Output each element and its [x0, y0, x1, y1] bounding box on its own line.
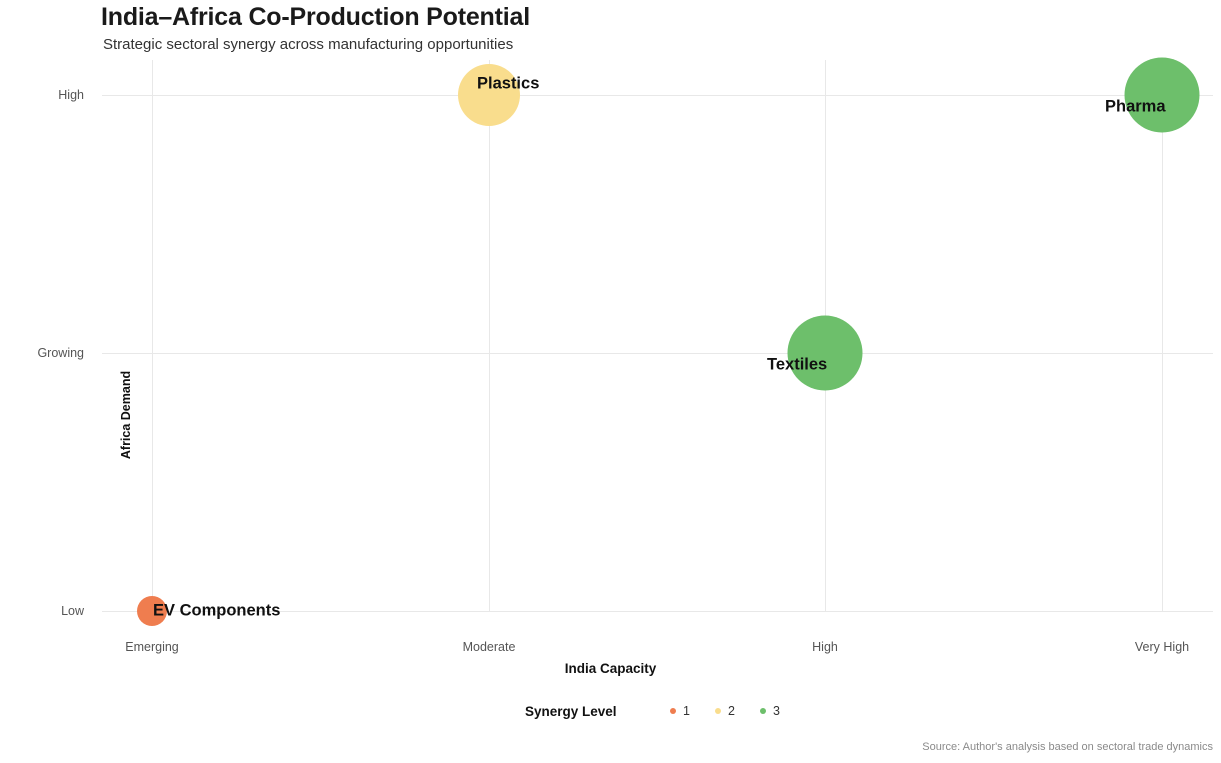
legend-item-3[interactable]: 3 — [760, 704, 780, 718]
legend-item-2[interactable]: 2 — [715, 704, 735, 718]
gridline-x-very-high — [1162, 60, 1163, 611]
gridline-x-emerging — [152, 60, 153, 611]
y-tick-high: High — [58, 88, 84, 102]
legend-swatch-1-icon — [670, 708, 676, 714]
page-subtitle: Strategic sectoral synergy across manufa… — [103, 36, 513, 53]
x-axis-label: India Capacity — [0, 661, 1221, 676]
legend-label-2: 2 — [728, 704, 735, 718]
x-tick-very-high: Very High — [1135, 640, 1189, 654]
plot-area: Plastics Pharma Textiles EV Components A… — [102, 60, 1213, 611]
legend-swatch-2-icon — [715, 708, 721, 714]
source-note: Source: Author's analysis based on secto… — [922, 741, 1213, 753]
legend-label-3: 3 — [773, 704, 780, 718]
bubble-label-textiles: Textiles — [767, 356, 827, 375]
gridline-y-growing — [102, 353, 1213, 354]
x-tick-moderate: Moderate — [463, 640, 516, 654]
bubble-textiles[interactable] — [788, 316, 863, 391]
legend-label-1: 1 — [683, 704, 690, 718]
legend-swatch-3-icon — [760, 708, 766, 714]
bubble-label-pharma: Pharma — [1105, 98, 1166, 117]
legend-item-1[interactable]: 1 — [670, 704, 690, 718]
bubble-plastics[interactable] — [458, 64, 520, 126]
x-tick-emerging: Emerging — [125, 640, 179, 654]
y-tick-growing: Growing — [37, 346, 84, 360]
gridline-y-high — [102, 95, 1213, 96]
x-tick-high: High — [812, 640, 838, 654]
legend-title: Synergy Level — [525, 704, 617, 719]
gridline-x-moderate — [489, 60, 490, 611]
y-tick-low: Low — [61, 604, 84, 618]
bubble-label-plastics: Plastics — [477, 75, 539, 94]
bubble-label-ev-components: EV Components — [153, 602, 280, 621]
legend: Synergy Level 1 2 3 — [0, 704, 1221, 724]
bubble-pharma[interactable] — [1125, 58, 1200, 133]
page-title: India–Africa Co-Production Potential — [101, 3, 530, 32]
y-axis-label: Africa Demand — [119, 345, 133, 485]
